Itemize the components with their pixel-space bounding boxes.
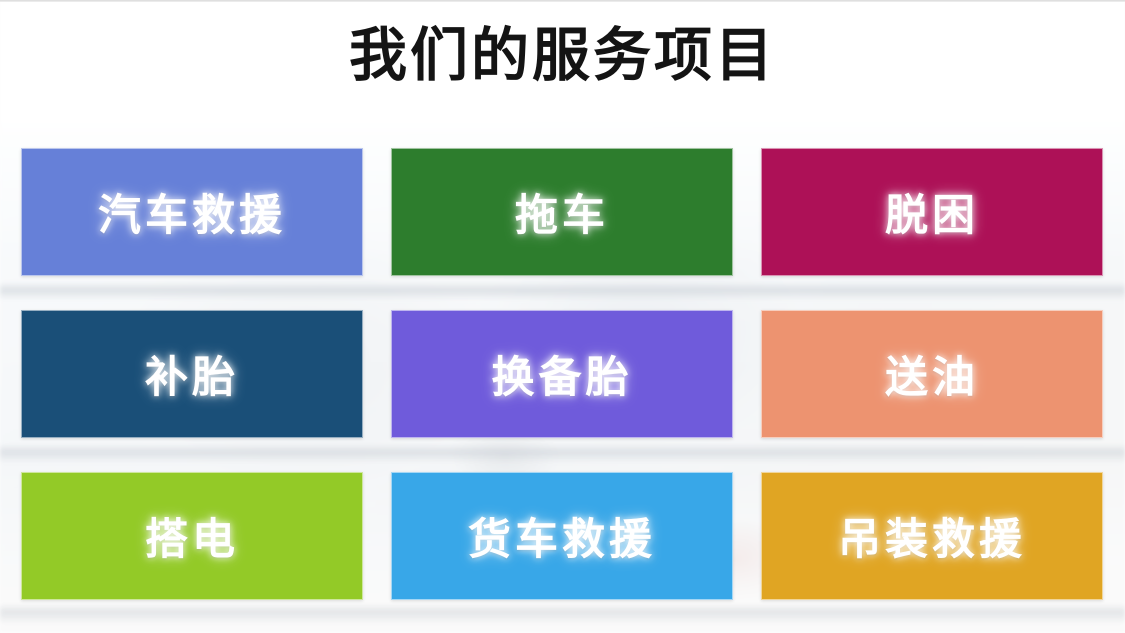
tile-hoisting-rescue[interactable]: 吊装救援 [761, 472, 1103, 600]
tile-tow-truck[interactable]: 拖车 [391, 148, 733, 276]
service-tile-label: 拖车 [515, 181, 609, 243]
tile-car-rescue[interactable]: 汽车救援 [21, 148, 363, 276]
service-tile-label: 汽车救援 [98, 181, 286, 243]
service-tile-label: 送油 [885, 343, 979, 405]
service-grid: 汽车救援拖车脱困补胎换备胎送油搭电货车救援吊装救援 [21, 148, 1103, 600]
tile-fuel-delivery[interactable]: 送油 [761, 310, 1103, 438]
service-tile-label: 补胎 [145, 343, 239, 405]
service-tile-label: 脱困 [885, 181, 979, 243]
service-poster: 我们的服务项目 汽车救援拖车脱困补胎换备胎送油搭电货车救援吊装救援 [0, 0, 1125, 633]
tile-extrication[interactable]: 脱困 [761, 148, 1103, 276]
service-tile-label: 货车救援 [468, 505, 656, 567]
tile-jump-start[interactable]: 搭电 [21, 472, 363, 600]
tile-tire-repair[interactable]: 补胎 [21, 310, 363, 438]
service-tile-label: 搭电 [145, 505, 239, 567]
page-title: 我们的服务项目 [0, 22, 1125, 89]
tile-spare-tire-change[interactable]: 换备胎 [391, 310, 733, 438]
tile-truck-rescue[interactable]: 货车救援 [391, 472, 733, 600]
service-tile-label: 吊装救援 [838, 505, 1026, 567]
service-tile-label: 换备胎 [492, 343, 633, 405]
top-divider [0, 0, 1125, 2]
